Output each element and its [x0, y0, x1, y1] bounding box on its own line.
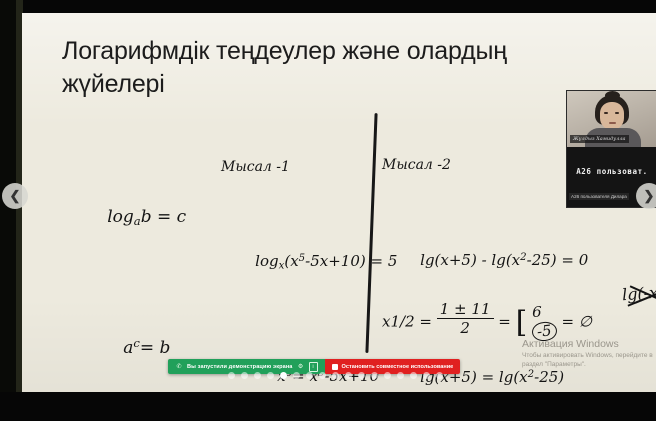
example1-heading: Мысал -1 — [221, 157, 397, 177]
chevron-right-icon[interactable]: ❯ — [636, 183, 656, 209]
fraction-denominator: 2 — [437, 319, 494, 337]
formula-token: = b — [140, 338, 171, 358]
formula-subscript: a — [134, 214, 141, 228]
pagination-dot[interactable] — [410, 372, 417, 379]
stop-sharing-label: Остановить совместное использование — [342, 364, 454, 370]
roots-fraction: 1 ± 11 2 — [437, 301, 494, 337]
formula-token: (x — [284, 252, 298, 270]
watermark-title: Активация Windows — [522, 338, 656, 351]
pagination-dot[interactable] — [332, 372, 339, 379]
example2-line-1: lg(x+5) - lg(x2-25) = 0 — [382, 228, 656, 293]
formula-token: -25) — [534, 368, 564, 386]
pagination-dot[interactable] — [436, 372, 443, 379]
screen-share-view: Логарифмдік теңдеулер және олардың жүйел… — [0, 0, 656, 421]
pagination-dot[interactable] — [293, 372, 300, 379]
pagination-dot[interactable] — [423, 372, 430, 379]
pagination-dot[interactable] — [345, 372, 352, 379]
formula-line: logab = c — [64, 180, 191, 254]
formula-token: b = c — [141, 207, 186, 227]
stop-square-icon — [332, 364, 338, 370]
pagination-dot[interactable] — [280, 372, 287, 379]
participant-name-label: Жұлдыз Хамидулла — [570, 135, 629, 143]
formula-token: log — [107, 207, 134, 227]
second-participant-label: A26 пользоват. — [567, 167, 656, 176]
windows-activation-watermark: Активация Windows Чтобы активировать Win… — [522, 338, 656, 369]
formula-token: a — [123, 338, 133, 358]
page-title: Логарифмдік теңдеулер және олардың жүйел… — [62, 35, 562, 101]
roots-brace: [ — [516, 305, 528, 340]
avatar-face — [600, 102, 624, 130]
pagination-dot[interactable] — [397, 372, 404, 379]
pagination-dot[interactable] — [241, 372, 248, 379]
root-value-positive: 6 — [532, 304, 557, 321]
formula-token: lg(x+5) - lg(x — [420, 251, 520, 269]
roots-stack: 6 -5 — [532, 304, 557, 341]
pagination-dot[interactable] — [254, 372, 261, 379]
roots-conclusion: = ∅ — [562, 313, 592, 331]
gear-icon[interactable]: ⚙ — [297, 363, 305, 371]
pagination-dot[interactable] — [267, 372, 274, 379]
info-icon[interactable]: i — [309, 362, 318, 372]
top-letterbox-bar — [0, 0, 656, 13]
fraction-numerator: 1 ± 11 — [437, 301, 494, 319]
example1-line-1: logx(x5-5x+10) = 5 — [217, 229, 397, 296]
pagination-dot[interactable] — [371, 372, 378, 379]
pagination-dot[interactable] — [319, 372, 326, 379]
pagination-dot[interactable] — [228, 372, 235, 379]
pagination-dot[interactable] — [306, 372, 313, 379]
second-participant-sublabel: A26 пользователя Дилара — [569, 193, 629, 200]
formula-token: = — [498, 313, 511, 331]
formula-token: = — [419, 313, 432, 331]
watermark-subtitle: Чтобы активировать Windows, перейдите в … — [522, 351, 656, 369]
phone-icon: ✆ — [175, 363, 183, 371]
formula-subscript: 1/2 — [390, 313, 414, 331]
formula-column-left: logab = c ac= b logax = c x = ac logx b … — [64, 131, 191, 421]
pagination-dots[interactable] — [228, 372, 443, 379]
formula-token: -25) = 0 — [527, 251, 589, 269]
share-status-text: Вы запустили демонстрацию экрана — [187, 364, 293, 370]
avatar-mouth — [609, 122, 616, 124]
formula-token: log — [255, 252, 278, 270]
pagination-dot[interactable] — [384, 372, 391, 379]
whiteboard-slide: Логарифмдік теңдеулер және олардың жүйел… — [22, 13, 656, 392]
chevron-left-icon[interactable]: ❮ — [2, 183, 28, 209]
example2-roots-line: x1/2 = 1 ± 11 2 = [ 6 -5 = ∅ — [382, 301, 592, 341]
avatar-eye-left — [604, 112, 608, 114]
avatar-eye-right — [615, 112, 619, 114]
pagination-dot[interactable] — [358, 372, 365, 379]
